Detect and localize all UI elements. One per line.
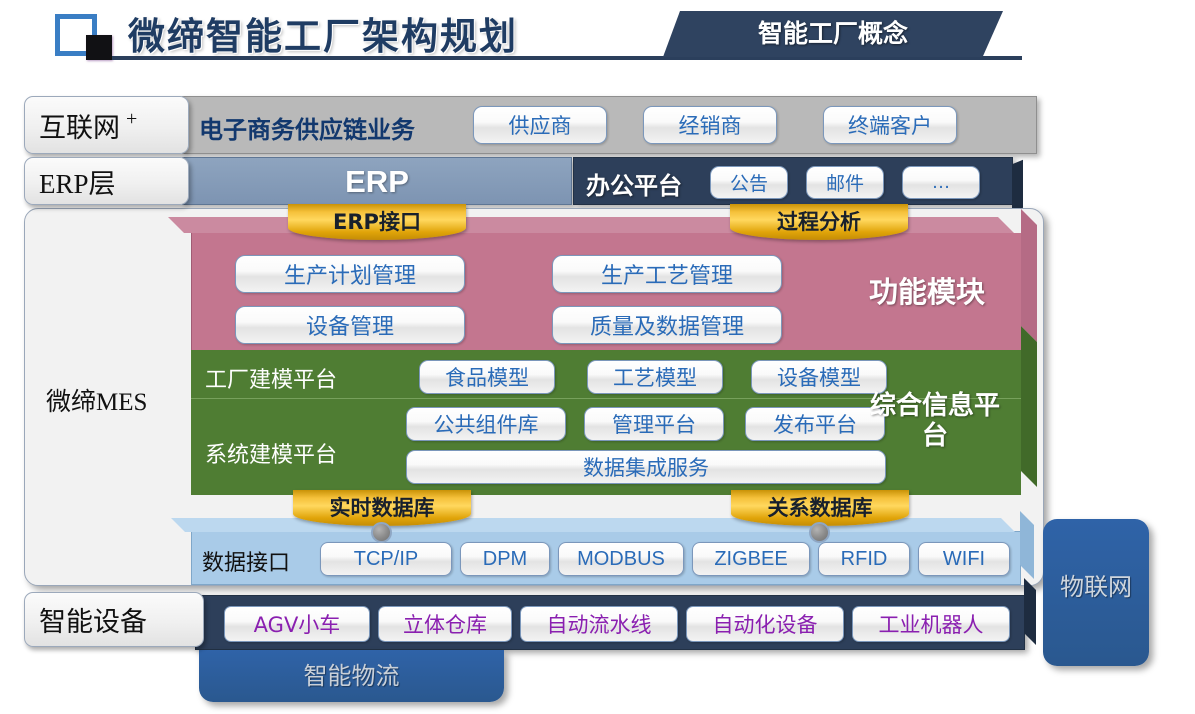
tab-label: 智能工厂概念 [663,11,1003,57]
function-item-production-process[interactable]: 生产工艺管理 [552,255,782,293]
connector-relational-database-label: 关系数据库 [731,492,909,522]
internet-item-end-customer[interactable]: 终端客户 [823,106,957,144]
platform-item-data-integration-service[interactable]: 数据集成服务 [406,450,886,484]
page-header: 微缔智能工厂架构规划 智能工厂概念 [0,0,1195,68]
protocol-dpm[interactable]: DPM [460,542,550,576]
layer-label-internet-text: 互联网 [39,106,120,145]
internet-item-supplier[interactable]: 供应商 [473,106,607,144]
protocol-zigbee[interactable]: ZIGBEE [692,542,810,576]
platform-item-process-model[interactable]: 工艺模型 [587,360,723,394]
smart-devices-panel: AGV小车 立体仓库 自动流水线 自动化设备 工业机器人 [195,595,1025,650]
data-interface-label: 数据接口 [202,545,290,577]
device-auto-assembly-line[interactable]: 自动流水线 [520,606,678,642]
connector-realtime-database[interactable]: 实时数据库 [293,490,471,526]
protocol-wifi-label: WIFI [943,548,985,571]
function-module-panel: 生产计划管理 生产工艺管理 设备管理 质量及数据管理 功能模块 [191,233,1021,350]
erp-block[interactable]: ERP [182,157,572,205]
devices-panel-side-face [1024,578,1036,645]
internet-layer-row: 电子商务供应链业务 供应商 经销商 终端客户 [182,96,1037,154]
platform-item-data-integration-service-label: 数据集成服务 [583,452,709,482]
connector-realtime-database-label: 实时数据库 [293,492,471,522]
office-item-more[interactable]: … [902,166,980,199]
protocol-modbus-label: MODBUS [577,548,665,571]
connector-process-analysis-label: 过程分析 [730,206,908,236]
office-platform-label: 办公平台 [586,166,682,201]
protocol-rfid-label: RFID [841,548,888,571]
function-panel-title: 功能模块 [847,269,1007,311]
connector-erp-interface-label: ERP接口 [288,206,466,236]
function-panel-side-face [1021,209,1037,342]
device-stereo-warehouse[interactable]: 立体仓库 [378,606,512,642]
protocol-zigbee-label: ZIGBEE [714,548,787,571]
protocol-wifi[interactable]: WIFI [918,542,1010,576]
data-interface-panel: 数据接口 TCP/IP DPM MODBUS ZIGBEE RFID WIFI [191,531,1021,585]
device-industrial-robot[interactable]: 工业机器人 [852,606,1010,642]
iot-label: 物联网 [1043,567,1149,602]
square-solid-icon [86,35,112,60]
function-item-quality-data-mgmt[interactable]: 质量及数据管理 [552,306,782,344]
office-platform-block: 办公平台 公告 邮件 … [573,157,1013,205]
platform-item-equipment-model-label: 设备模型 [777,362,861,392]
internet-item-supplier-label: 供应商 [509,110,572,140]
internet-item-dealer[interactable]: 经销商 [643,106,777,144]
platform-item-management-platform[interactable]: 管理平台 [584,407,724,441]
function-item-production-plan[interactable]: 生产计划管理 [235,255,465,293]
iot-box[interactable]: 物联网 [1043,519,1149,666]
connector-process-analysis[interactable]: 过程分析 [730,204,908,240]
connector-knob-realtime [371,522,392,543]
connector-knob-relational [809,522,830,543]
platform-row2-label: 系统建模平台 [205,437,337,469]
platform-item-food-model[interactable]: 食品模型 [419,360,555,394]
ecommerce-supply-chain-label: 电子商务供应链业务 [199,110,415,145]
platform-item-management-platform-label: 管理平台 [612,409,696,439]
function-item-equipment-mgmt[interactable]: 设备管理 [235,306,465,344]
office-item-mail-label: 邮件 [826,169,864,196]
device-industrial-robot-label: 工业机器人 [879,609,984,639]
device-stereo-warehouse-label: 立体仓库 [403,609,487,639]
platform-item-equipment-model[interactable]: 设备模型 [751,360,887,394]
connector-relational-database[interactable]: 关系数据库 [731,490,909,526]
device-agv-cart-label: AGV小车 [254,609,341,639]
office-item-more-label: … [932,172,951,194]
tab-smart-factory-concept[interactable]: 智能工厂概念 [663,11,1003,57]
platform-item-food-model-label: 食品模型 [445,362,529,392]
device-auto-assembly-line-label: 自动流水线 [547,609,652,639]
protocol-tcpip-label: TCP/IP [354,548,418,571]
connector-erp-interface[interactable]: ERP接口 [288,204,466,240]
office-item-announcement[interactable]: 公告 [710,166,788,199]
protocol-modbus[interactable]: MODBUS [558,542,684,576]
smart-logistics-label: 智能物流 [199,650,504,702]
device-automation-equipment-label: 自动化设备 [713,609,818,639]
protocol-dpm-label: DPM [483,548,527,571]
device-automation-equipment[interactable]: 自动化设备 [686,606,844,642]
protocol-tcpip[interactable]: TCP/IP [320,542,452,576]
function-item-production-plan-label: 生产计划管理 [284,258,416,290]
function-item-quality-data-mgmt-label: 质量及数据管理 [590,309,744,341]
layer-label-internet-plus: + [126,108,137,131]
platform-panel-side-face [1021,326,1037,487]
information-platform-panel: 工厂建模平台 食品模型 工艺模型 设备模型 系统建模平台 公共组件库 管理平台 … [191,350,1021,495]
office-block-side-face [1012,160,1023,212]
platform-panel-title: 综合信息平台 [859,392,1011,452]
office-item-mail[interactable]: 邮件 [806,166,884,199]
protocol-rfid[interactable]: RFID [818,542,910,576]
office-item-announcement-label: 公告 [730,169,768,196]
function-item-equipment-mgmt-label: 设备管理 [306,309,394,341]
platform-item-publish-platform-label: 发布平台 [773,409,857,439]
erp-block-label: ERP [183,158,571,206]
layer-label-internet: 互联网 + [24,96,189,154]
internet-item-dealer-label: 经销商 [679,110,742,140]
internet-item-end-customer-label: 终端客户 [848,110,932,140]
layer-label-smart-devices: 智能设备 [24,592,204,647]
layer-label-smart-devices-text: 智能设备 [39,600,147,639]
smart-logistics-box[interactable]: 智能物流 [199,650,504,702]
platform-item-process-model-label: 工艺模型 [613,362,697,392]
layer-label-erp-text: ERP层 [39,162,116,201]
layer-label-erp: ERP层 [24,157,189,205]
device-agv-cart[interactable]: AGV小车 [224,606,370,642]
platform-item-common-component-lib[interactable]: 公共组件库 [406,407,566,441]
page-title: 微缔智能工厂架构规划 [128,6,518,60]
platform-item-common-component-lib-label: 公共组件库 [434,409,539,439]
platform-row1-label: 工厂建模平台 [205,362,337,394]
mes-label: 微缔MES [46,382,147,418]
function-item-production-process-label: 生产工艺管理 [601,258,733,290]
